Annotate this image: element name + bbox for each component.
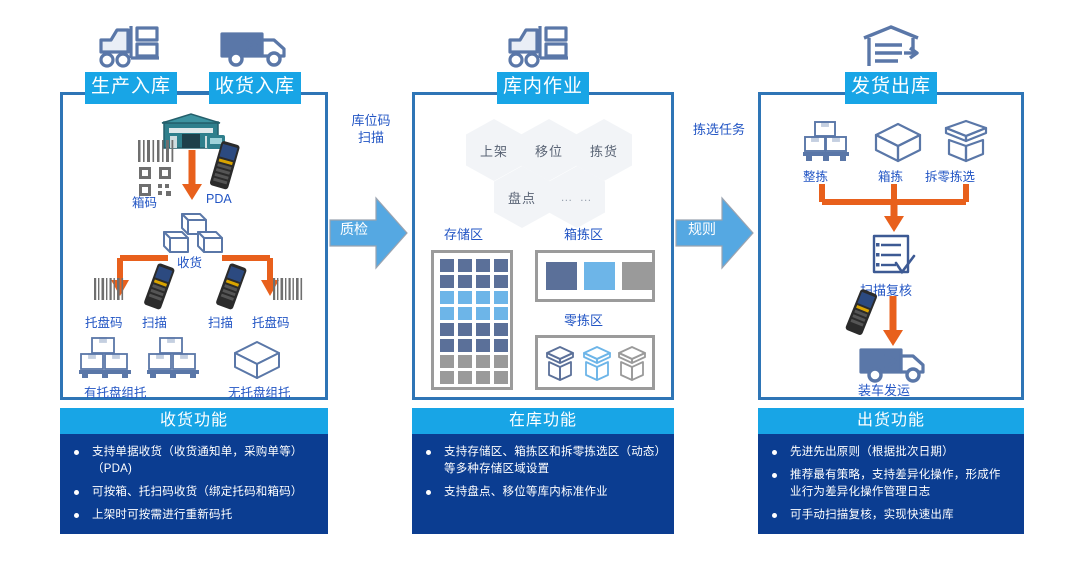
stage1-feature-box: 收货功能 支持单据收货（收货通知单，采购单等）（PDA) 可按箱、托扫码收货（绑… (60, 408, 328, 534)
label-case-pick-zone: 箱拣区 (564, 224, 603, 243)
storage-cell (440, 275, 454, 288)
stage3-feature-box: 出货功能 先进先出原则（根据批次日期） 推荐最有策略，支持差异化操作，形成作业行… (758, 408, 1024, 534)
stage3-feature-title: 出货功能 (758, 408, 1024, 434)
storage-cell (440, 323, 454, 336)
stage2-feature-body: 支持存储区、箱拣区和拆零拣选区（动态）等多种存储区域设置 支持盘点、移位等库内标… (412, 434, 674, 534)
label-scan-left: 扫描 (142, 312, 167, 331)
flow-arrow-down-2 (881, 296, 905, 348)
storage-cell (458, 355, 472, 368)
connector2-top-label: 拣选任务 (678, 121, 760, 138)
warehouse-outbound-icon (860, 24, 922, 70)
storage-cell (476, 355, 490, 368)
stage1-feature-title: 收货功能 (60, 408, 328, 434)
chip-connector-line (177, 91, 209, 94)
connector1-label-line2: 扫描 (332, 129, 410, 146)
label-loading-shipment: 装车发运 (858, 380, 910, 399)
checklist-icon (868, 234, 916, 280)
closed-box-icon (872, 122, 924, 164)
stage2-feature-box: 在库功能 支持存储区、箱拣区和拆零拣选区（动态）等多种存储区域设置 支持盘点、移… (412, 408, 674, 534)
stage1-chip-production-inbound[interactable]: 生产入库 (85, 72, 177, 104)
list-item: 可手动扫描复核，实现快速出库 (764, 507, 1012, 524)
pallet-barcode-right-icon (272, 278, 306, 300)
shipping-truck-icon (857, 342, 929, 384)
palletized-stack-icon (78, 336, 136, 378)
palletized-stack-icon-2 (146, 336, 204, 378)
storage-cell (458, 291, 472, 304)
label-pda: PDA (206, 192, 232, 206)
pda-device-icon (206, 140, 242, 192)
diagram-canvas: 生产入库 收货入库 (0, 0, 1080, 570)
label-storage-zone: 存储区 (444, 224, 483, 243)
piece-pick-zone-box (535, 335, 655, 390)
storage-cell (476, 307, 490, 320)
storage-cell (440, 355, 454, 368)
storage-cell (458, 259, 472, 272)
case-pick-cell (584, 262, 615, 290)
storage-cell (494, 371, 508, 384)
list-item: 上架时可按需进行重新码托 (66, 507, 316, 524)
label-without-pallet: 无托盘组托 (228, 382, 291, 401)
stage3-feature-body: 先进先出原则（根据批次日期） 推荐最有策略，支持差异化操作，形成作业行为差异化操… (758, 434, 1024, 534)
carton-barcode-icon (136, 140, 176, 198)
storage-cell (458, 275, 472, 288)
storage-cell (494, 355, 508, 368)
label-with-pallet: 有托盘组托 (84, 382, 147, 401)
stage1-feature-body: 支持单据收货（收货通知单，采购单等）（PDA) 可按箱、托扫码收货（绑定托码和箱… (60, 434, 328, 534)
storage-cell (458, 339, 472, 352)
connector1-label-line1: 库位码 (332, 112, 410, 129)
flow-arrow-branch (110, 238, 280, 300)
forklift-icon (95, 22, 165, 70)
pda-device-icon-outbound (842, 288, 880, 338)
pallet-stack-icon (800, 120, 852, 162)
stage1-chip-receiving-inbound[interactable]: 收货入库 (209, 72, 301, 104)
case-pick-zone-box (535, 250, 655, 302)
list-item: 推荐最有策略，支持差异化操作，形成作业行为差异化操作管理日志 (764, 467, 1012, 501)
pda-scan-right-icon (212, 262, 248, 312)
case-pick-cell (622, 262, 653, 290)
storage-cell (440, 291, 454, 304)
storage-cell (476, 259, 490, 272)
stage2-feature-title: 在库功能 (412, 408, 674, 434)
label-carton-code: 箱码 (132, 192, 157, 211)
label-scan-right: 扫描 (208, 312, 233, 331)
list-item: 先进先出原则（根据批次日期） (764, 444, 1012, 461)
connector1-top-label: 库位码 扫描 (332, 112, 410, 146)
storage-cell (440, 307, 454, 320)
storage-cell (494, 259, 508, 272)
pda-scan-left-icon (140, 262, 176, 312)
connector1-arrow-label: 质检 (340, 219, 368, 239)
list-item: 支持盘点、移位等库内标准作业 (418, 484, 662, 501)
storage-cell (458, 371, 472, 384)
storage-cell (494, 339, 508, 352)
storage-cell (476, 291, 490, 304)
label-pallet-code-left: 托盘码 (85, 312, 123, 331)
storage-cell (440, 339, 454, 352)
pallet-barcode-left-icon (93, 278, 127, 300)
list-item: 支持存储区、箱拣区和拆零拣选区（动态）等多种存储区域设置 (418, 444, 662, 478)
storage-cell (440, 259, 454, 272)
storage-cell (476, 339, 490, 352)
flow-arrow-down-1 (180, 150, 204, 202)
forklift-icon-2 (504, 22, 574, 70)
case-pick-cell (546, 262, 577, 290)
stage3-chip-shipping-outbound[interactable]: 发货出库 (845, 72, 937, 104)
storage-cell (494, 323, 508, 336)
storage-cell (458, 307, 472, 320)
storage-cell (494, 291, 508, 304)
storage-cell (476, 275, 490, 288)
storage-cell (494, 275, 508, 288)
flow-arrow-merge (818, 182, 970, 234)
list-item: 支持单据收货（收货通知单，采购单等）（PDA) (66, 444, 316, 478)
open-box-icon-1 (542, 345, 578, 383)
single-box-icon (232, 340, 282, 380)
stage2-chip-inhouse-operation[interactable]: 库内作业 (497, 72, 589, 104)
storage-cell (440, 371, 454, 384)
open-box-icon (938, 120, 994, 164)
connector2-arrow-label: 规则 (688, 219, 716, 239)
storage-cell (458, 323, 472, 336)
storage-zone-grid (431, 250, 513, 390)
storage-cell (494, 307, 508, 320)
delivery-truck-icon (218, 26, 290, 68)
open-box-icon-2 (579, 345, 615, 383)
open-box-icon-3 (614, 345, 650, 383)
storage-cell (476, 323, 490, 336)
label-piece-pick-zone: 零拣区 (564, 310, 603, 329)
list-item: 可按箱、托扫码收货（绑定托码和箱码） (66, 484, 316, 501)
storage-cell (476, 371, 490, 384)
label-pallet-code-right: 托盘码 (252, 312, 290, 331)
